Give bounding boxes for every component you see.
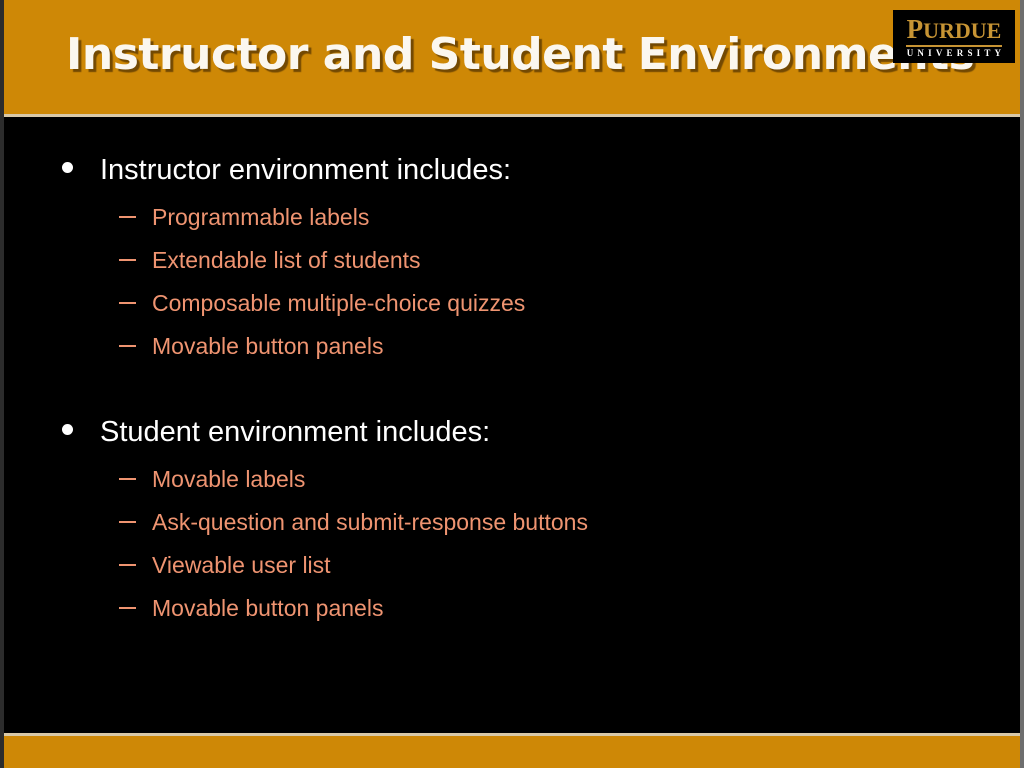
bullet-group-student: Student environment includes: Movable la… — [62, 415, 962, 631]
sub-bullet-item: Composable multiple-choice quizzes — [62, 283, 962, 324]
purdue-wordmark-rest: URDUE — [923, 18, 1001, 43]
purdue-logo: PURDUE UNIVERSITY — [893, 10, 1015, 63]
page-title: Instructor and Student Environments — [66, 32, 974, 78]
sub-bullet-label: Viewable user list — [152, 545, 331, 586]
sub-bullet-label: Composable multiple-choice quizzes — [152, 283, 525, 324]
slide-footer-band — [0, 736, 1024, 768]
purdue-logo-rule — [906, 45, 1002, 47]
sub-bullet-item: Movable button panels — [62, 326, 962, 367]
bullet-dot-icon — [62, 424, 73, 435]
slide-body: Instructor environment includes: Program… — [0, 117, 1024, 735]
purdue-wordmark: PURDUE — [907, 16, 1002, 44]
sub-bullet-item: Programmable labels — [62, 197, 962, 238]
sub-bullet-label: Movable labels — [152, 459, 305, 500]
sub-bullet-item: Viewable user list — [62, 545, 962, 586]
sub-bullet-item: Movable labels — [62, 459, 962, 500]
sub-bullet-label: Movable button panels — [152, 326, 383, 367]
sub-bullet-label: Movable button panels — [152, 588, 383, 629]
sub-bullet-label: Ask-question and submit-response buttons — [152, 502, 588, 543]
dash-bullet-icon — [119, 607, 136, 609]
presentation-slide: Instructor and Student Environments PURD… — [0, 0, 1024, 768]
purdue-logo-inner: PURDUE UNIVERSITY — [893, 10, 1015, 63]
purdue-logo-subtitle: UNIVERSITY — [903, 49, 1006, 58]
sub-bullet-item: Extendable list of students — [62, 240, 962, 281]
slide-left-border — [0, 0, 4, 768]
sub-bullet-label: Programmable labels — [152, 197, 369, 238]
bullet-heading-label: Instructor environment includes: — [100, 153, 511, 187]
bullet-heading-instructor: Instructor environment includes: — [62, 153, 962, 187]
sub-bullet-item: Ask-question and submit-response buttons — [62, 502, 962, 543]
dash-bullet-icon — [119, 216, 136, 218]
bullet-group-instructor: Instructor environment includes: Program… — [62, 153, 962, 369]
sub-bullet-label: Extendable list of students — [152, 240, 421, 281]
dash-bullet-icon — [119, 259, 136, 261]
bullet-dot-icon — [62, 162, 73, 173]
dash-bullet-icon — [119, 564, 136, 566]
bullet-heading-label: Student environment includes: — [100, 415, 490, 449]
dash-bullet-icon — [119, 521, 136, 523]
bullet-heading-student: Student environment includes: — [62, 415, 962, 449]
sub-bullet-item: Movable button panels — [62, 588, 962, 629]
dash-bullet-icon — [119, 478, 136, 480]
purdue-wordmark-initial: P — [907, 14, 924, 44]
dash-bullet-icon — [119, 345, 136, 347]
dash-bullet-icon — [119, 302, 136, 304]
slide-right-border — [1020, 0, 1024, 768]
